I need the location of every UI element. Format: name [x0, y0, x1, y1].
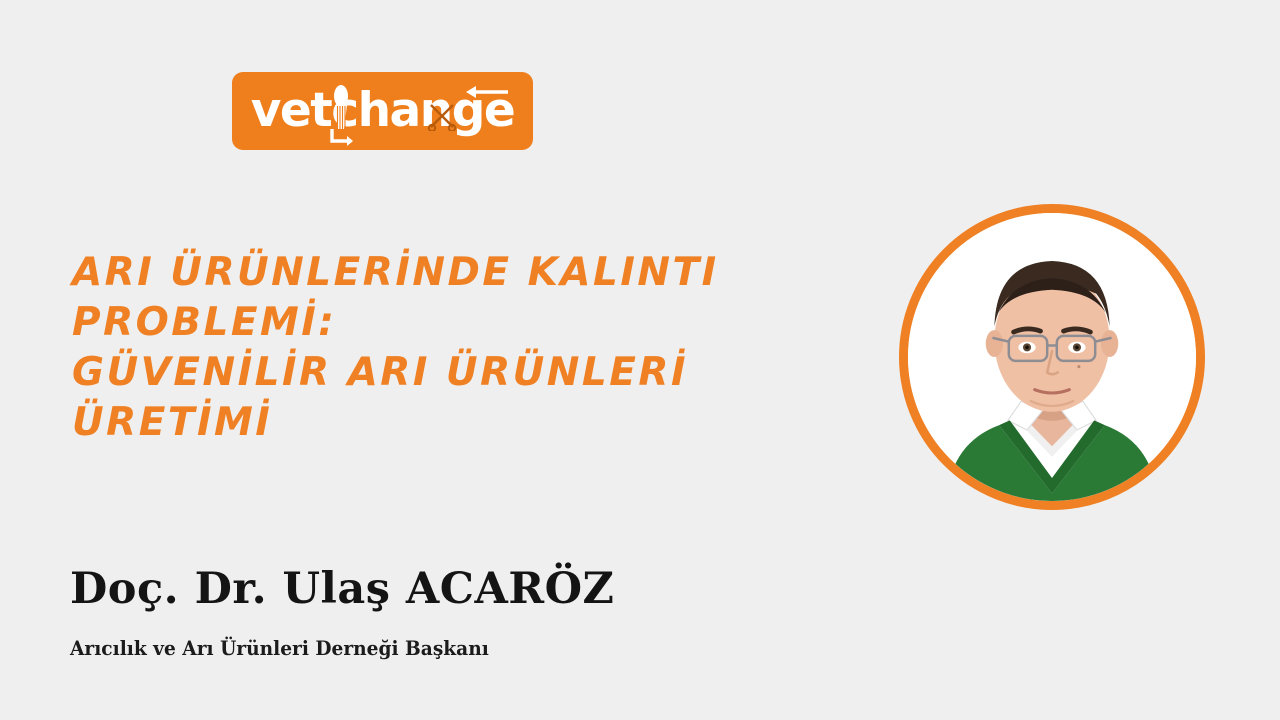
presentation-slide: vetchange	[0, 0, 1280, 720]
speaker-portrait-illustration	[908, 213, 1196, 501]
speaker-name: Doç. Dr. Ulaş ACARÖZ	[70, 566, 614, 613]
slide-title-line-4: ÜRETİMİ	[72, 398, 862, 448]
speaker-role: Arıcılık ve Arı Ürünleri Derneği Başkanı	[70, 637, 489, 659]
slide-title-line-3: GÜVENİLİR ARI ÜRÜNLERİ	[72, 348, 862, 398]
slide-title-line-1: ARI ÜRÜNLERİNDE KALINTI	[72, 248, 862, 298]
logo-wordmark-text: vetchange	[251, 87, 515, 136]
logo-wordmark-label: vetchange	[251, 83, 515, 138]
slide-title: ARI ÜRÜNLERİNDE KALINTI PROBLEMİ: GÜVENİ…	[72, 248, 862, 448]
slide-title-line-2: PROBLEMİ:	[72, 298, 862, 348]
vetchange-logo: vetchange	[232, 72, 533, 150]
speaker-portrait	[899, 204, 1205, 510]
